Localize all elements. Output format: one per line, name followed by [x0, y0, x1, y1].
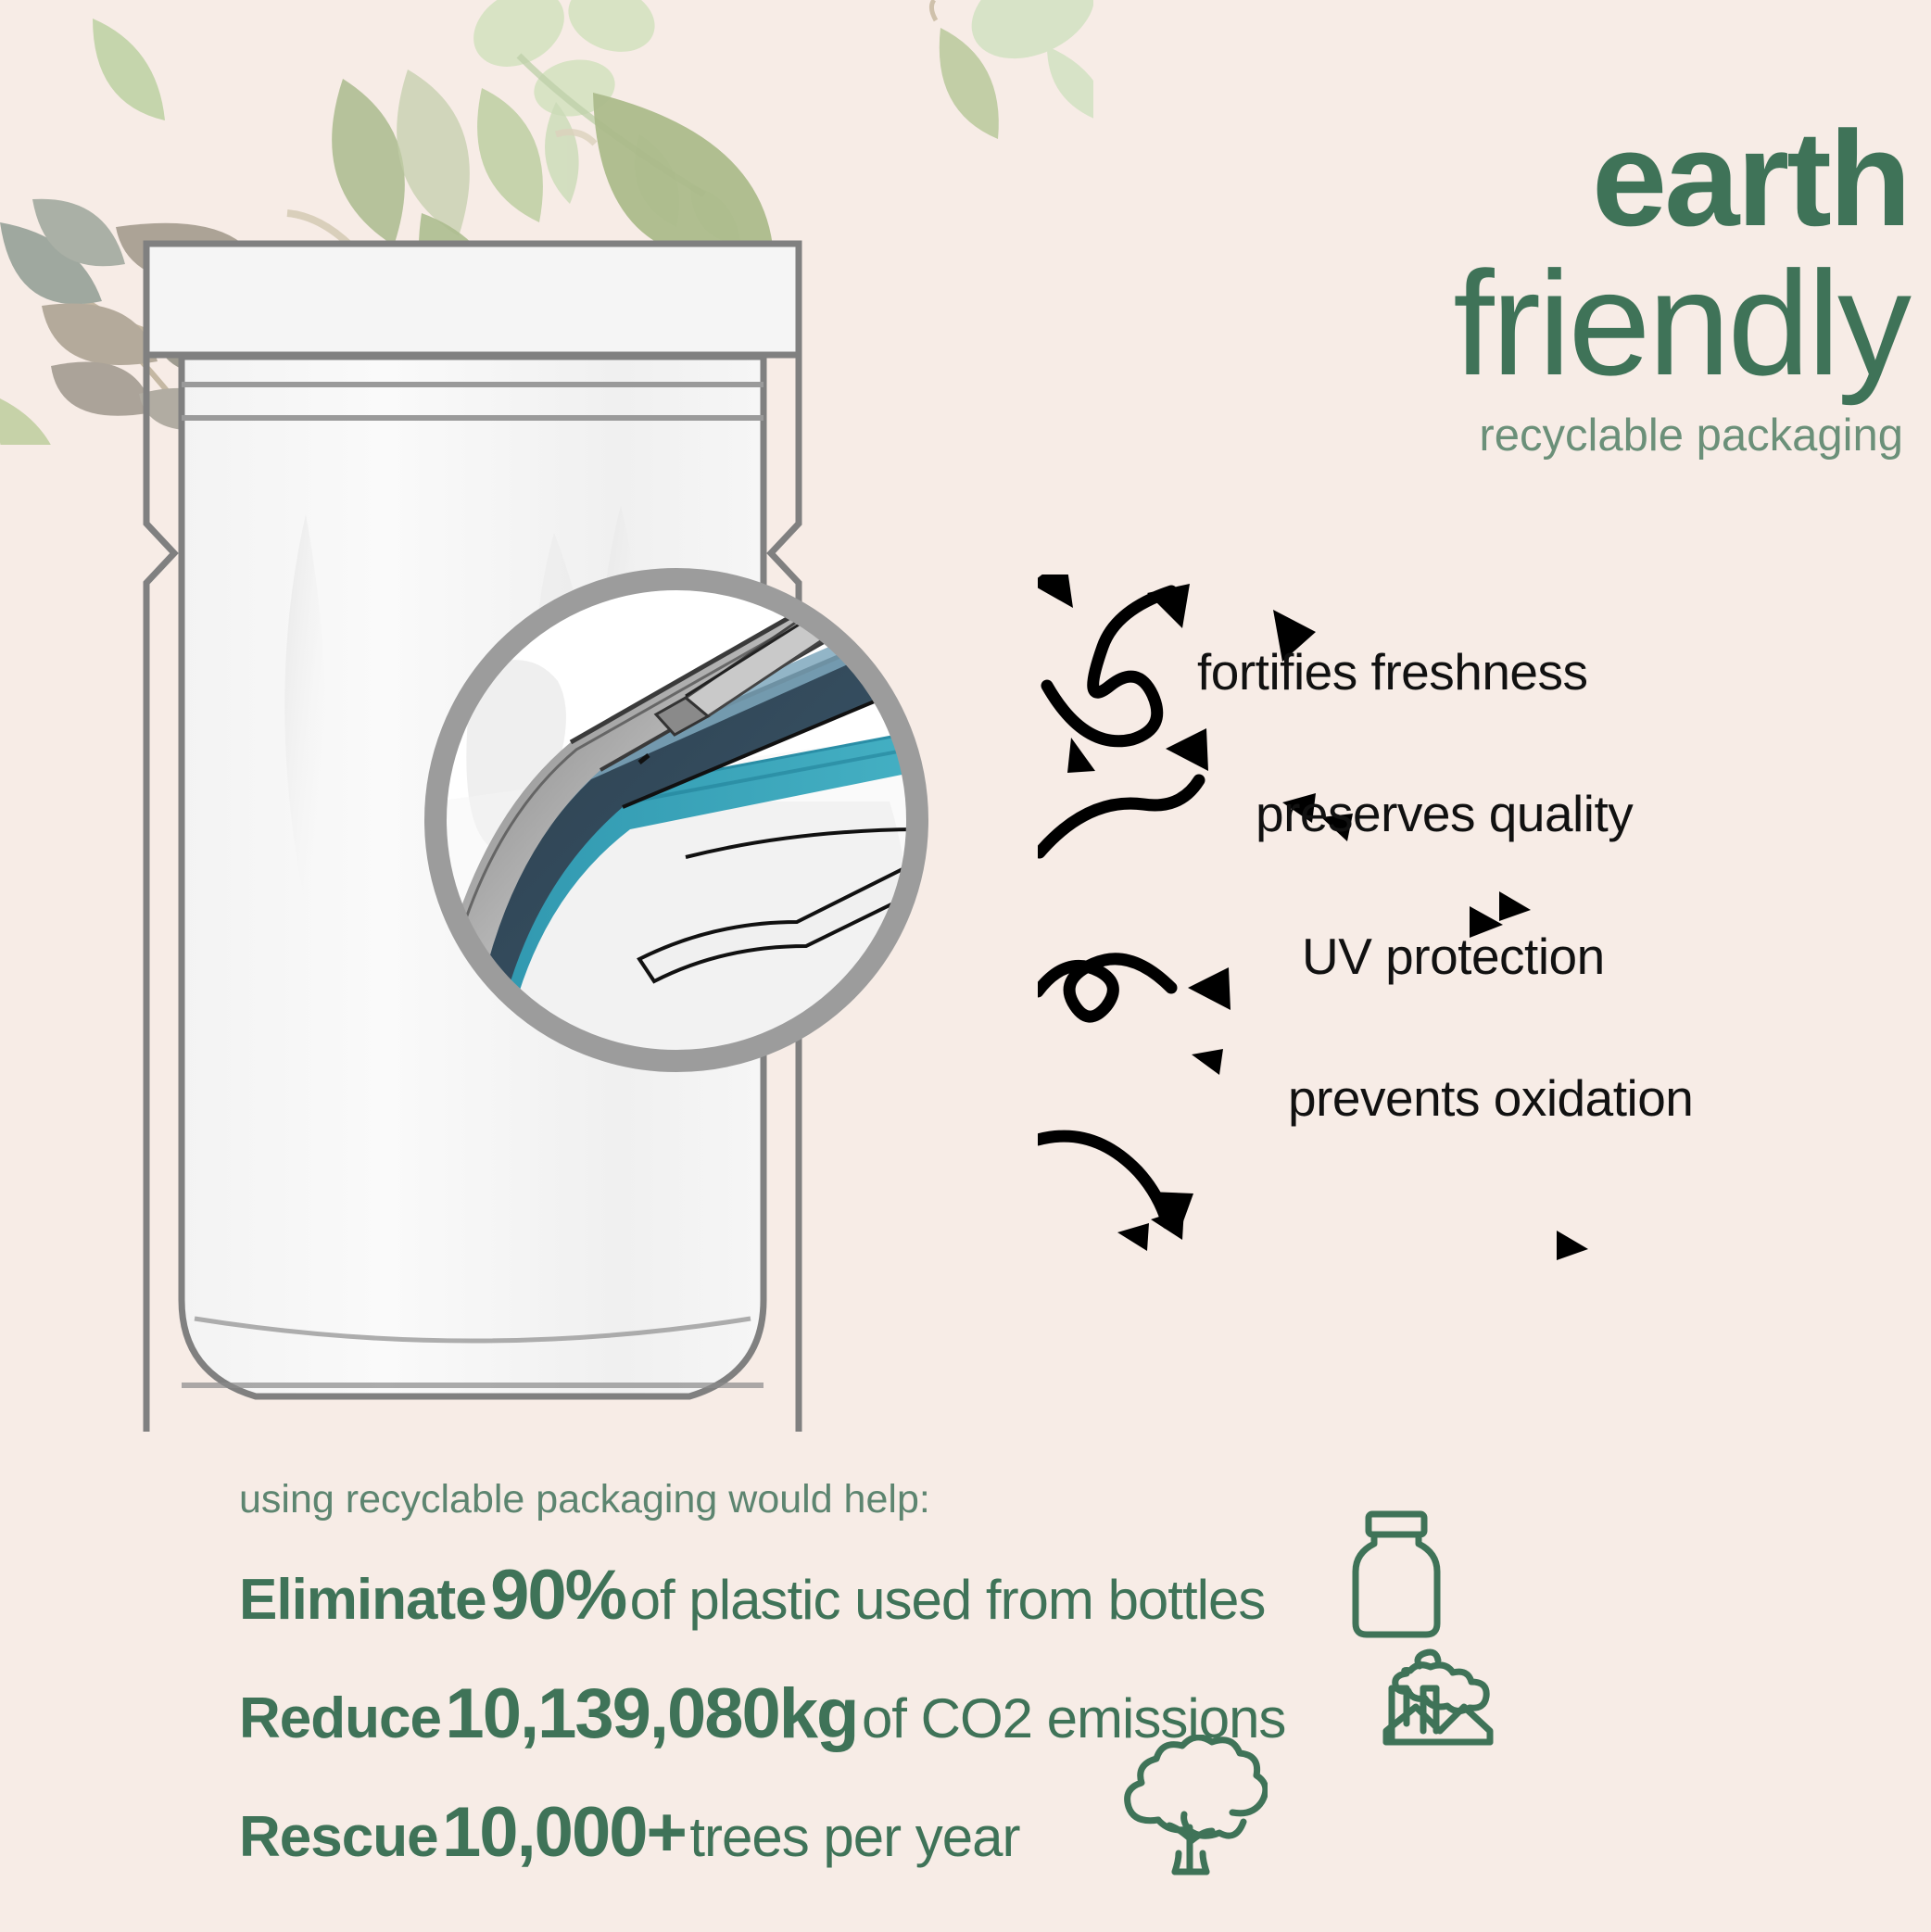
bottle-icon	[1341, 1510, 1452, 1640]
heading-block: earth friendly recyclable packaging	[1149, 111, 1909, 461]
stat-tail: of plastic used from bottles	[630, 1569, 1266, 1631]
stat-lead: Rescue	[239, 1805, 438, 1869]
stat-value: 90%	[490, 1556, 625, 1635]
heading-line-2: friendly	[1149, 246, 1909, 400]
feature-label-preserves-quality: preserves quality	[1256, 784, 1633, 843]
stat-lead: Eliminate	[239, 1568, 486, 1632]
stat-value: 10,000+	[442, 1793, 686, 1872]
stat-lead: Reduce	[239, 1686, 441, 1750]
infographic-canvas: earth friendly recyclable packaging fort…	[0, 0, 1931, 1932]
feature-label-uv-protection: UV protection	[1302, 927, 1605, 986]
magnified-film-layers	[408, 524, 945, 1117]
heading-subtitle: recyclable packaging	[1149, 411, 1903, 461]
stat-tail: trees per year	[689, 1806, 1019, 1868]
stat-row-bottles: Eliminate 90% of plastic used from bottl…	[239, 1560, 1265, 1631]
heading-line-1: earth	[1149, 111, 1909, 246]
stat-value: 10,139,080kg	[445, 1674, 857, 1753]
stats-intro: using recyclable packaging would help:	[239, 1477, 930, 1522]
factory-icon	[1375, 1631, 1514, 1761]
tree-icon	[1110, 1735, 1268, 1888]
stat-row-trees: Rescue 10,000+ trees per year	[239, 1798, 1020, 1868]
feature-label-fortifies-freshness: fortifies freshness	[1197, 642, 1588, 701]
feature-label-prevents-oxidation: prevents oxidation	[1288, 1068, 1693, 1128]
